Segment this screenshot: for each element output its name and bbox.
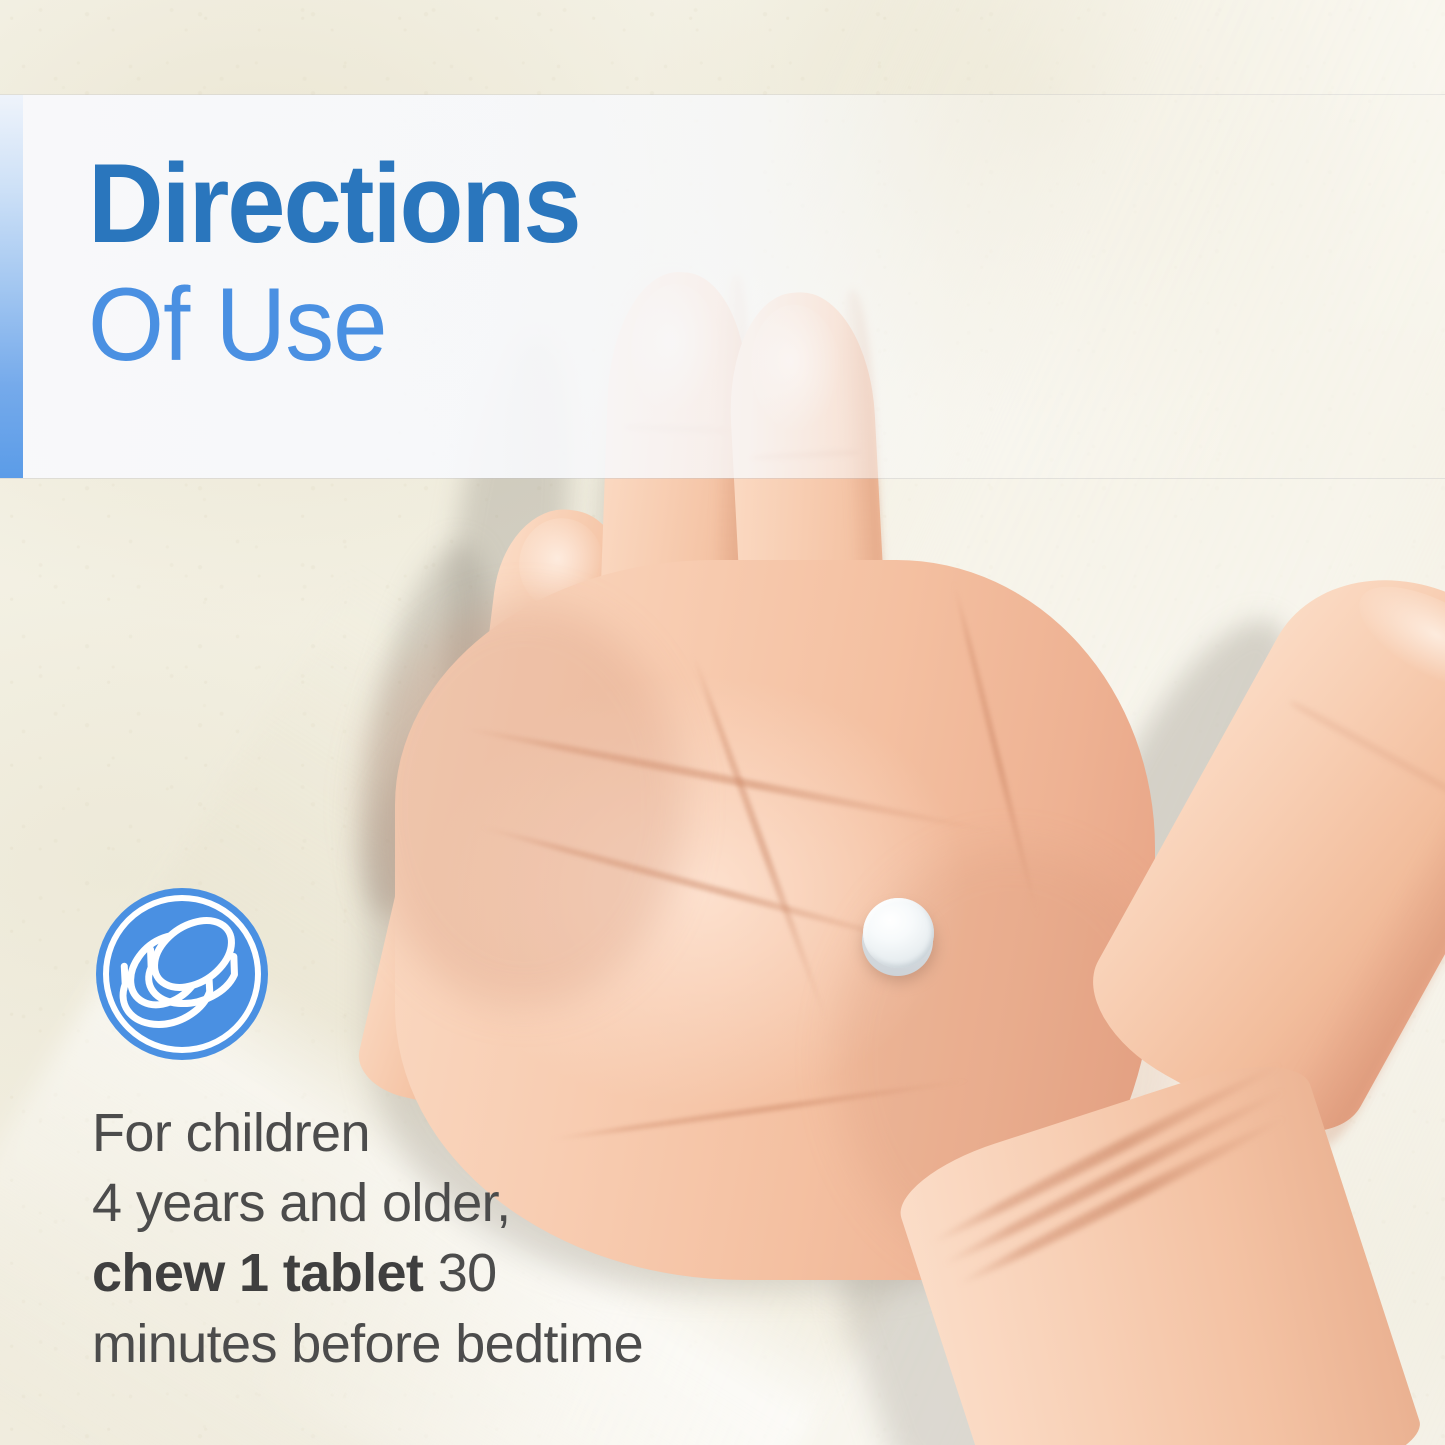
infographic-canvas: Directions Of Use For children 4 years xyxy=(0,0,1445,1445)
directions-body-text: For children 4 years and older, chew 1 t… xyxy=(92,1098,732,1379)
palm-crease-life xyxy=(689,650,831,1024)
tablet-badge-icon xyxy=(94,886,270,1062)
directions-line-2: 4 years and older, xyxy=(92,1168,732,1238)
left-accent-bar xyxy=(0,95,23,478)
page-title: Directions Of Use xyxy=(88,150,788,378)
directions-line-4: minutes before bedtime xyxy=(92,1309,732,1379)
directions-line-1: For children xyxy=(92,1098,732,1168)
title-line-primary: Directions xyxy=(88,150,743,258)
directions-dose-emphasis: chew 1 tablet xyxy=(92,1243,423,1303)
title-line-secondary: Of Use xyxy=(88,272,746,378)
white-round-tablet xyxy=(861,898,936,978)
palm-inner-shadow xyxy=(365,603,684,1006)
directions-line-3-rest: 30 xyxy=(423,1243,496,1303)
directions-line-3: chew 1 tablet 30 xyxy=(92,1238,732,1308)
